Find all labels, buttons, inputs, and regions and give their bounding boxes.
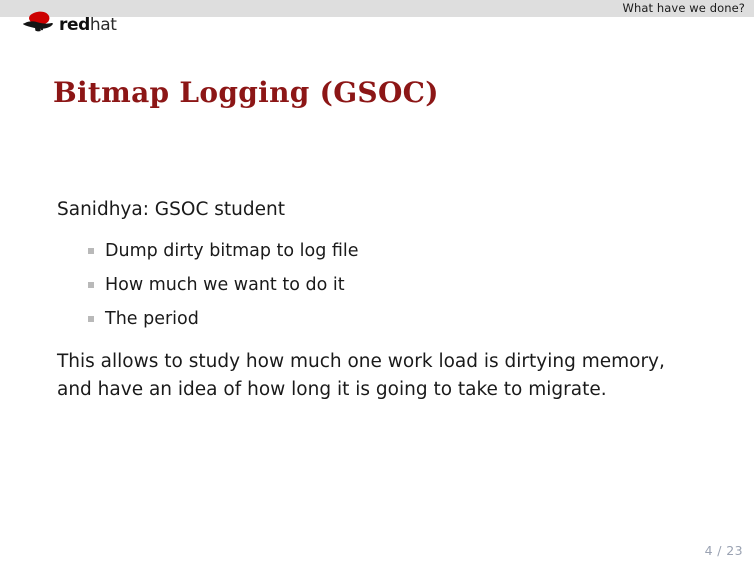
paragraph-line: This allows to study how much one work l… xyxy=(57,348,697,376)
list-item: The period xyxy=(57,306,697,340)
body-paragraph: This allows to study how much one work l… xyxy=(57,348,697,404)
list-item-label: How much we want to do it xyxy=(105,275,345,295)
square-bullet-icon xyxy=(88,282,94,288)
list-item-label: The period xyxy=(105,309,199,329)
bullet-list: Dump dirty bitmap to log file How much w… xyxy=(57,238,697,340)
redhat-wordmark-red: red xyxy=(59,15,90,35)
list-item: Dump dirty bitmap to log file xyxy=(57,238,697,272)
paragraph-line: and have an idea of how long it is going… xyxy=(57,376,697,404)
list-item-label: Dump dirty bitmap to log file xyxy=(105,241,359,261)
slide-title: Bitmap Logging (GSOC) xyxy=(53,76,439,110)
lead-text: Sanidhya: GSOC student xyxy=(57,198,285,222)
redhat-wordmark-hat: hat xyxy=(90,15,117,35)
redhat-shadowman-icon xyxy=(21,11,57,35)
square-bullet-icon xyxy=(88,248,94,254)
page-number-indicator: 4 / 23 xyxy=(705,543,743,558)
redhat-logo: redhat xyxy=(21,10,117,36)
redhat-wordmark: redhat xyxy=(59,17,117,34)
square-bullet-icon xyxy=(88,316,94,322)
list-item: How much we want to do it xyxy=(57,272,697,306)
section-title: What have we done? xyxy=(623,1,745,15)
presentation-slide: What have we done? redhat Bitmap Logging… xyxy=(0,0,754,566)
